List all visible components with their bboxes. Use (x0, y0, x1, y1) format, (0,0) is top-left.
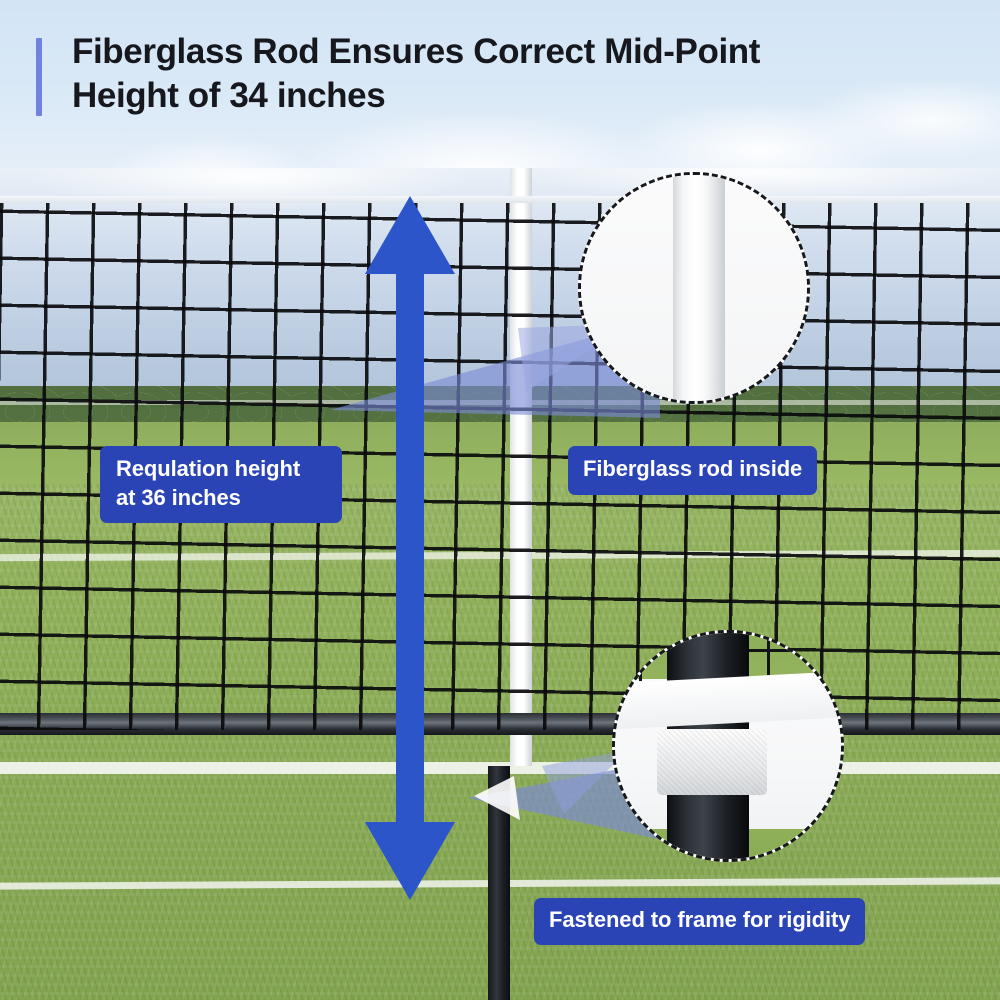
page-title-line-2: Height of 34 inches (72, 74, 972, 118)
net-top-rope (0, 196, 1000, 203)
callout-fastened-frame: Fastened to frame for rigidity (534, 898, 865, 945)
magnifier-inset-top-pole (578, 172, 810, 404)
callout-regulation-height-line-2: at 36 inches (116, 484, 326, 513)
inset-net-line-v2 (767, 630, 770, 675)
page-title-line-1: Fiberglass Rod Ensures Correct Mid-Point (72, 30, 972, 74)
magnifier-inset-bottom-strap (612, 630, 844, 862)
inset-velcro-strap (657, 729, 767, 795)
callout-regulation-height: Requlation height at 36 inches (100, 446, 342, 523)
callout-regulation-height-line-1: Requlation height (116, 455, 326, 484)
callout-fiberglass-rod: Fiberglass rod inside (568, 446, 817, 495)
height-measurement-arrow (355, 188, 465, 908)
title-accent-bar (36, 38, 42, 116)
inset-net-line-v (639, 630, 642, 681)
product-photo-scene (0, 168, 1000, 1000)
inset-white-pole (673, 172, 725, 404)
page-title: Fiberglass Rod Ensures Correct Mid-Point… (72, 30, 972, 118)
header-band: Fiberglass Rod Ensures Correct Mid-Point… (0, 0, 1000, 168)
infographic-stage: Fiberglass Rod Ensures Correct Mid-Point… (0, 0, 1000, 1000)
